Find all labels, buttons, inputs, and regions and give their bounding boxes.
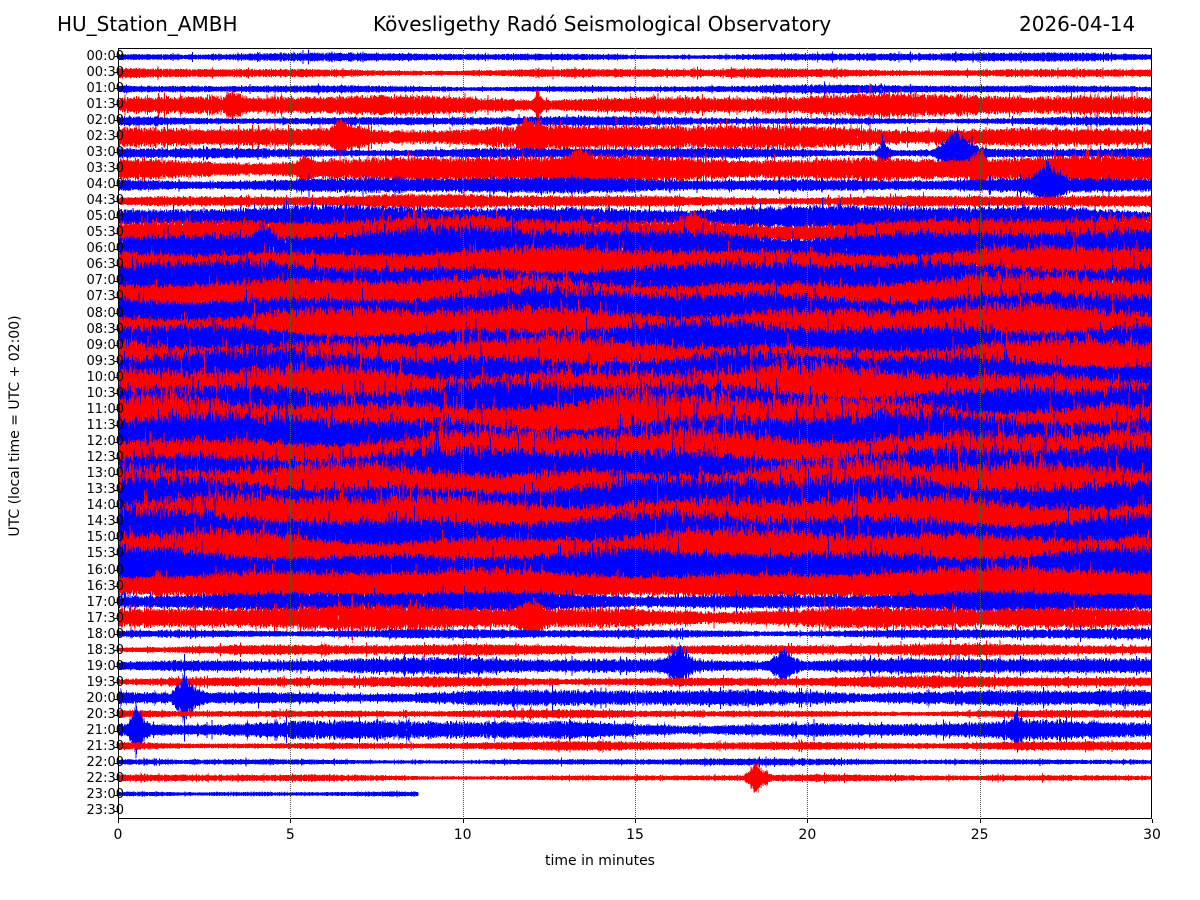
x-tick-label-30: 30 xyxy=(1143,828,1161,842)
y-tick-label-08-30: 08:30 xyxy=(87,323,124,336)
y-tick-label-13-00: 13:00 xyxy=(87,467,124,480)
y-axis-title: UTC (local time = UTC + 02:00) xyxy=(7,46,23,806)
y-tick-label-20-00: 20:00 xyxy=(87,692,124,705)
y-tick-label-00-00: 00:00 xyxy=(87,50,124,63)
y-tick-label-07-00: 07:00 xyxy=(87,274,124,287)
y-tick-label-15-30: 15:30 xyxy=(87,547,124,560)
y-tick-label-23-00: 23:00 xyxy=(87,788,124,801)
y-tick-label-18-30: 18:30 xyxy=(87,644,124,657)
y-axis-title-wrap: UTC (local time = UTC + 02:00) xyxy=(0,0,30,900)
seismogram-figure: HU_Station_AMBH Kövesligethy Radó Seismo… xyxy=(0,0,1200,900)
y-tick-label-13-30: 13:30 xyxy=(87,483,124,496)
y-tick-label-20-30: 20:30 xyxy=(87,708,124,721)
gridline-x-10 xyxy=(463,48,464,819)
y-tick-label-17-30: 17:30 xyxy=(87,612,124,625)
y-tick-label-10-30: 10:30 xyxy=(87,387,124,400)
x-tick-mark-10 xyxy=(463,819,464,823)
y-tick-label-22-30: 22:30 xyxy=(87,772,124,785)
y-tick-label-18-00: 18:00 xyxy=(87,628,124,641)
y-tick-label-03-30: 03:30 xyxy=(87,162,124,175)
x-tick-mark-5 xyxy=(290,819,291,823)
y-tick-label-08-00: 08:00 xyxy=(87,307,124,320)
y-tick-label-05-30: 05:30 xyxy=(87,226,124,239)
page-title: Kövesligethy Radó Seismological Observat… xyxy=(373,14,831,34)
y-tick-label-10-00: 10:00 xyxy=(87,371,124,384)
y-tick-label-09-00: 09:00 xyxy=(87,339,124,352)
x-axis-title: time in minutes xyxy=(0,853,1200,869)
y-tick-label-01-30: 01:30 xyxy=(87,98,124,111)
y-tick-label-02-30: 02:30 xyxy=(87,130,124,143)
y-tick-label-03-00: 03:00 xyxy=(87,146,124,159)
x-tick-label-25: 25 xyxy=(971,828,989,842)
x-tick-label-15: 15 xyxy=(626,828,644,842)
y-tick-label-05-00: 05:00 xyxy=(87,210,124,223)
y-tick-label-22-00: 22:00 xyxy=(87,756,124,769)
y-tick-label-11-00: 11:00 xyxy=(87,403,124,416)
station-label: HU_Station_AMBH xyxy=(57,14,237,34)
y-tick-label-06-00: 06:00 xyxy=(87,242,124,255)
y-tick-label-19-30: 19:30 xyxy=(87,676,124,689)
y-tick-label-04-00: 04:00 xyxy=(87,178,124,191)
y-tick-label-07-30: 07:30 xyxy=(87,290,124,303)
y-tick-label-17-00: 17:00 xyxy=(87,596,124,609)
y-tick-label-11-30: 11:30 xyxy=(87,419,124,432)
x-tick-mark-15 xyxy=(635,819,636,823)
y-tick-label-00-30: 00:30 xyxy=(87,66,124,79)
x-tick-mark-20 xyxy=(807,819,808,823)
x-tick-mark-25 xyxy=(980,819,981,823)
x-tick-mark-30 xyxy=(1152,819,1153,823)
y-tick-label-16-30: 16:30 xyxy=(87,580,124,593)
x-tick-label-10: 10 xyxy=(454,828,472,842)
x-tick-label-5: 5 xyxy=(286,828,295,842)
y-tick-label-06-30: 06:30 xyxy=(87,258,124,271)
y-tick-label-12-00: 12:00 xyxy=(87,435,124,448)
y-tick-label-01-00: 01:00 xyxy=(87,82,124,95)
x-tick-label-0: 0 xyxy=(114,828,123,842)
gridline-x-20 xyxy=(807,48,808,819)
date-label: 2026-04-14 xyxy=(1019,14,1135,34)
y-tick-label-14-30: 14:30 xyxy=(87,515,124,528)
y-tick-label-19-00: 19:00 xyxy=(87,660,124,673)
gridline-x-5 xyxy=(290,48,291,819)
y-tick-label-09-30: 09:30 xyxy=(87,355,124,368)
y-tick-label-04-30: 04:30 xyxy=(87,194,124,207)
y-tick-label-23-30: 23:30 xyxy=(87,804,124,817)
y-tick-label-21-30: 21:30 xyxy=(87,740,124,753)
y-tick-label-14-00: 14:00 xyxy=(87,499,124,512)
gridline-x-25 xyxy=(980,48,981,819)
y-tick-label-02-00: 02:00 xyxy=(87,114,124,127)
x-tick-mark-0 xyxy=(118,819,119,823)
gridline-x-15 xyxy=(635,48,636,819)
x-tick-label-20: 20 xyxy=(798,828,816,842)
seismic-trace-23-00 xyxy=(119,791,418,798)
y-tick-label-16-00: 16:00 xyxy=(87,564,124,577)
y-tick-label-15-00: 15:00 xyxy=(87,531,124,544)
y-tick-label-21-00: 21:00 xyxy=(87,724,124,737)
y-tick-label-12-30: 12:30 xyxy=(87,451,124,464)
